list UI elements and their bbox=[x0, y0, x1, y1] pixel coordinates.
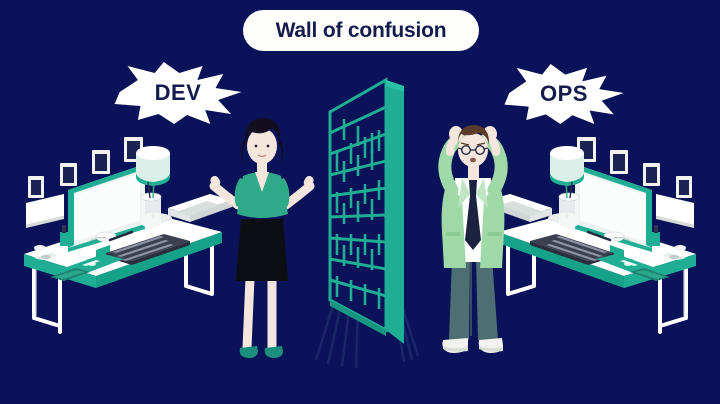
ops-speech-bubble: OPS bbox=[502, 64, 626, 124]
ops-label: OPS bbox=[540, 81, 588, 107]
page-title-text: Wall of confusion bbox=[276, 19, 447, 43]
scene-artwork bbox=[0, 0, 720, 404]
dev-speech-bubble: DEV bbox=[112, 62, 244, 124]
dev-label: DEV bbox=[155, 80, 202, 106]
page-title: Wall of confusion bbox=[243, 10, 479, 51]
illustration-canvas: DEV OPS Wall of confusion bbox=[0, 0, 720, 404]
